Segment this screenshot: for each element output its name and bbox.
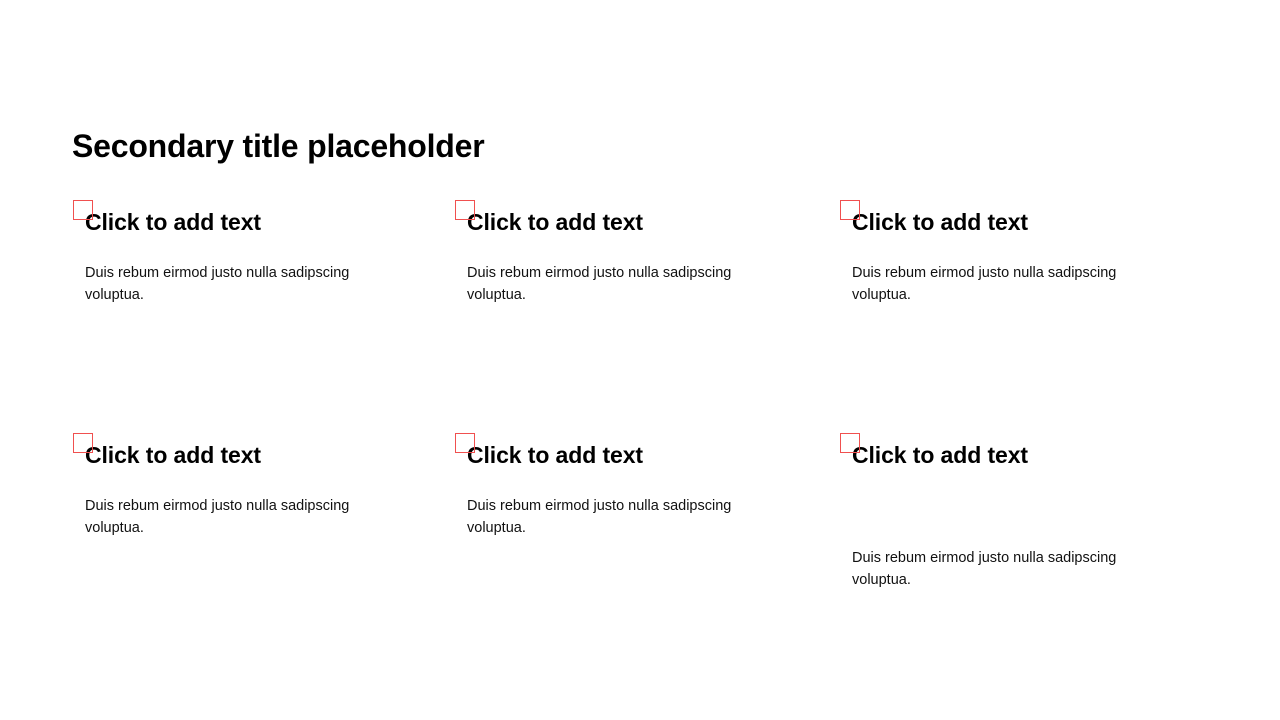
block-heading[interactable]: Click to add text xyxy=(852,208,1182,238)
block-heading-label: Click to add text xyxy=(467,209,643,235)
block-heading[interactable]: Click to add text xyxy=(852,441,1182,471)
square-outline-icon xyxy=(455,200,475,220)
content-grid: Click to add text Duis rebum eirmod just… xyxy=(0,0,1280,720)
block-heading[interactable]: Click to add text xyxy=(467,441,797,471)
block-heading[interactable]: Click to add text xyxy=(85,441,415,471)
square-outline-icon xyxy=(840,433,860,453)
slide-canvas: Secondary title placeholder Click to add… xyxy=(0,0,1280,720)
content-block[interactable]: Click to add text Duis rebum eirmod just… xyxy=(467,441,797,539)
block-body[interactable]: Duis rebum eirmod justo nulla sadipscing… xyxy=(85,238,397,307)
content-block[interactable]: Click to add text Duis rebum eirmod just… xyxy=(467,208,797,306)
square-outline-icon xyxy=(840,200,860,220)
square-outline-icon xyxy=(455,433,475,453)
block-heading-label: Click to add text xyxy=(852,209,1028,235)
block-body[interactable]: Duis rebum eirmod justo nulla sadipscing… xyxy=(852,471,1164,592)
content-block[interactable]: Click to add text Duis rebum eirmod just… xyxy=(852,208,1182,306)
content-block[interactable]: Click to add text Duis rebum eirmod just… xyxy=(852,441,1182,591)
block-body[interactable]: Duis rebum eirmod justo nulla sadipscing… xyxy=(85,471,397,540)
block-body[interactable]: Duis rebum eirmod justo nulla sadipscing… xyxy=(467,471,779,540)
block-heading-label: Click to add text xyxy=(467,442,643,468)
block-heading[interactable]: Click to add text xyxy=(85,208,415,238)
content-block[interactable]: Click to add text Duis rebum eirmod just… xyxy=(85,208,415,306)
block-heading-label: Click to add text xyxy=(852,442,1028,468)
block-body[interactable]: Duis rebum eirmod justo nulla sadipscing… xyxy=(467,238,779,307)
square-outline-icon xyxy=(73,200,93,220)
content-block[interactable]: Click to add text Duis rebum eirmod just… xyxy=(85,441,415,539)
block-heading-label: Click to add text xyxy=(85,442,261,468)
block-heading-label: Click to add text xyxy=(85,209,261,235)
square-outline-icon xyxy=(73,433,93,453)
block-body[interactable]: Duis rebum eirmod justo nulla sadipscing… xyxy=(852,238,1164,307)
block-heading[interactable]: Click to add text xyxy=(467,208,797,238)
